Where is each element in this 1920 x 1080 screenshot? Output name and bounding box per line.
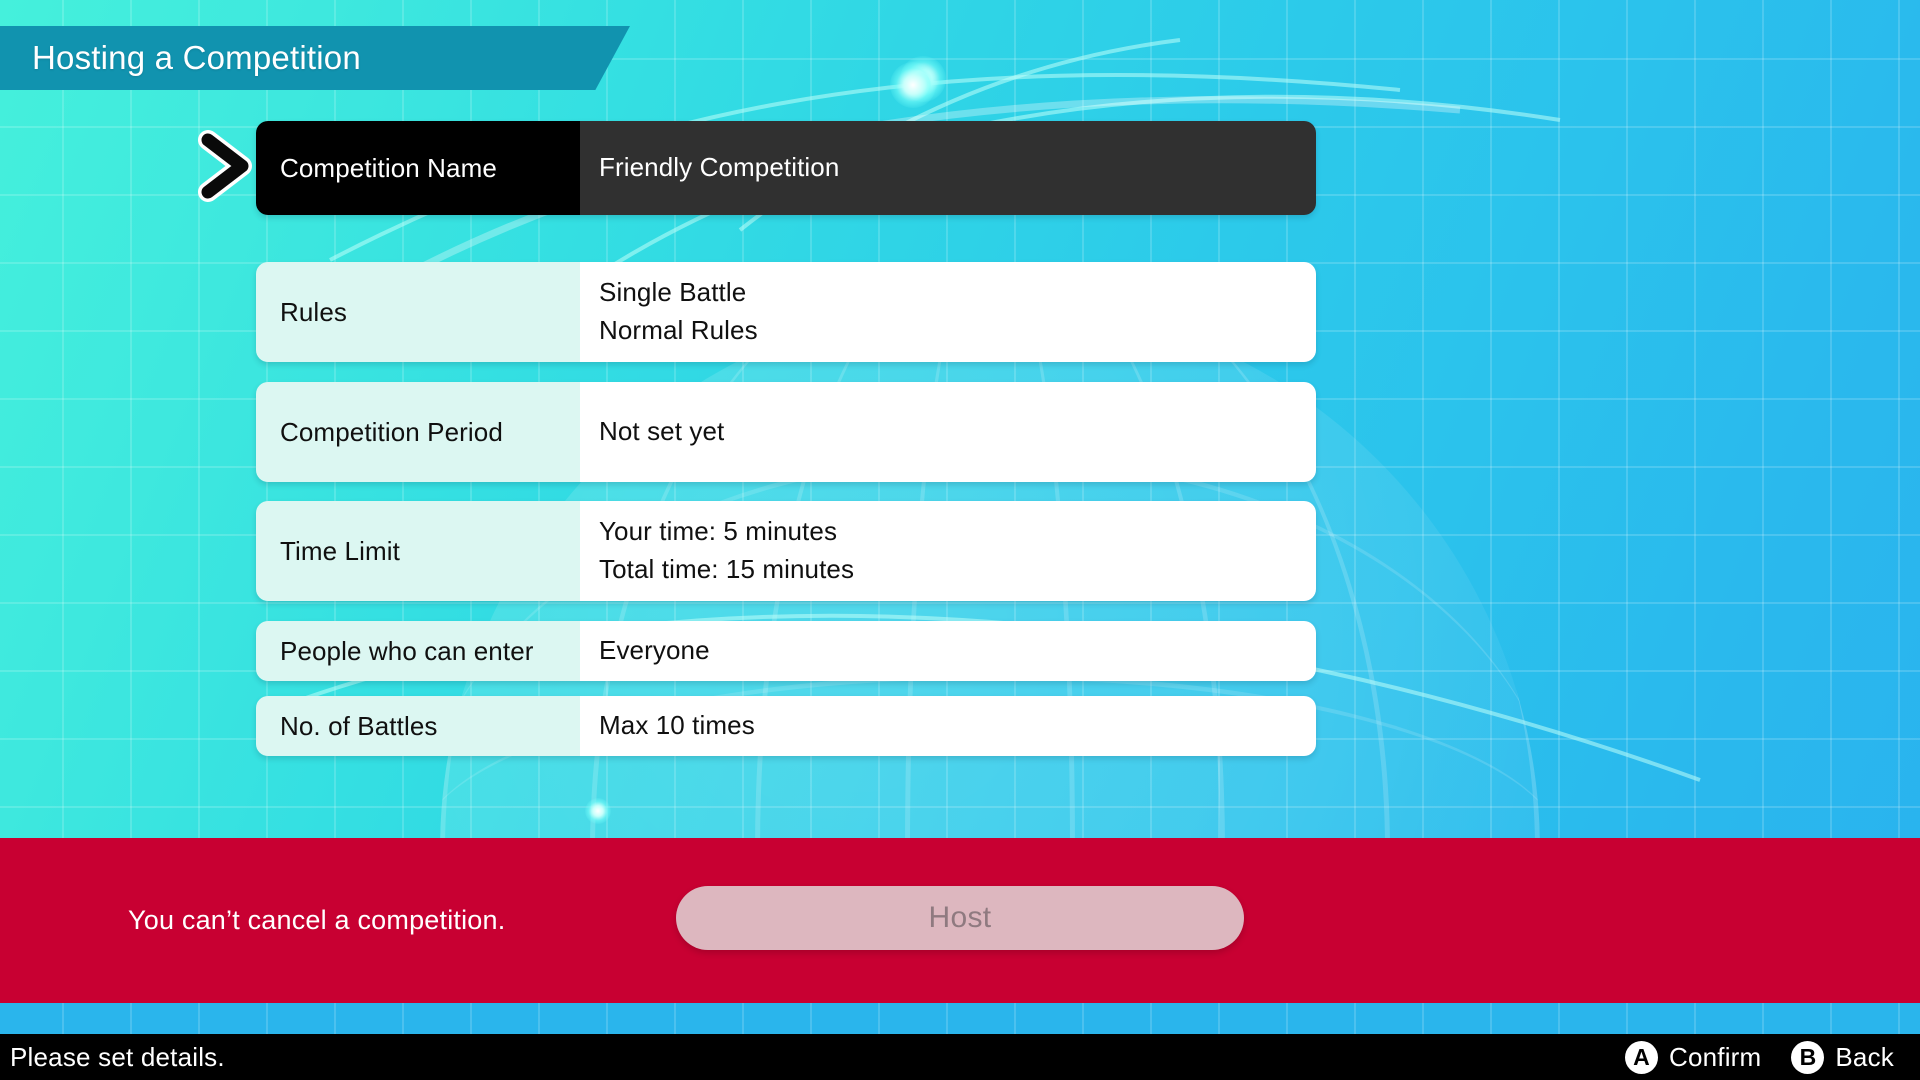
header-banner: Hosting a Competition [0, 26, 630, 90]
background-node [585, 798, 611, 824]
setting-label: Competition Period [280, 417, 503, 448]
setting-label: Time Limit [280, 536, 400, 567]
footer-actions: A Confirm B Back [1625, 1041, 1894, 1074]
footer-action-confirm[interactable]: A Confirm [1625, 1041, 1761, 1074]
a-button-icon: A [1625, 1041, 1658, 1074]
setting-label-cell: No. of Battles [256, 696, 580, 756]
setting-label-cell: People who can enter [256, 621, 580, 681]
setting-label: No. of Battles [280, 711, 437, 742]
setting-label: People who can enter [280, 636, 534, 667]
setting-value: Everyone [599, 632, 1316, 670]
setting-row-rules[interactable]: Rules Single Battle Normal Rules [256, 262, 1316, 362]
setting-label-cell: Competition Name [256, 121, 580, 215]
setting-value: Your time: 5 minutes [599, 513, 1316, 551]
setting-value: Max 10 times [599, 707, 1316, 745]
setting-row-competition-name[interactable]: Competition Name Friendly Competition [256, 121, 1316, 215]
setting-row-no-of-battles[interactable]: No. of Battles Max 10 times [256, 696, 1316, 756]
setting-row-time-limit[interactable]: Time Limit Your time: 5 minutes Total ti… [256, 501, 1316, 601]
setting-value-cell: Single Battle Normal Rules [580, 262, 1316, 362]
cancel-warning-text: You can’t cancel a competition. [128, 905, 505, 936]
footer-hint-text: Please set details. [10, 1042, 225, 1073]
setting-value-cell: Max 10 times [580, 696, 1316, 756]
footer-bar: Please set details. A Confirm B Back [0, 1034, 1920, 1080]
host-button-label: Host [929, 901, 992, 935]
setting-value-cell: Your time: 5 minutes Total time: 15 minu… [580, 501, 1316, 601]
footer-action-label: Back [1835, 1042, 1894, 1073]
setting-value-cell: Everyone [580, 621, 1316, 681]
setting-row-people-who-can-enter[interactable]: People who can enter Everyone [256, 621, 1316, 681]
setting-label: Rules [280, 297, 347, 328]
background-node [890, 62, 936, 108]
footer-blue-strip [0, 1003, 1920, 1034]
host-button[interactable]: Host [676, 886, 1244, 950]
setting-label-cell: Time Limit [256, 501, 580, 601]
setting-value-cell: Not set yet [580, 382, 1316, 482]
setting-value: Not set yet [599, 413, 1316, 451]
setting-label: Competition Name [280, 153, 497, 184]
game-screen: Hosting a Competition Competition Name F… [0, 0, 1920, 1080]
setting-label-cell: Rules [256, 262, 580, 362]
setting-value-cell: Friendly Competition [580, 121, 1316, 215]
setting-row-competition-period[interactable]: Competition Period Not set yet [256, 382, 1316, 482]
selection-cursor-icon [198, 130, 260, 204]
footer-action-back[interactable]: B Back [1791, 1041, 1894, 1074]
setting-value: Single Battle [599, 274, 1316, 312]
page-title: Hosting a Competition [0, 39, 361, 77]
b-button-icon: B [1791, 1041, 1824, 1074]
footer-action-label: Confirm [1669, 1042, 1761, 1073]
setting-label-cell: Competition Period [256, 382, 580, 482]
setting-value: Friendly Competition [599, 149, 1316, 187]
setting-value: Normal Rules [599, 312, 1316, 350]
setting-value: Total time: 15 minutes [599, 551, 1316, 589]
